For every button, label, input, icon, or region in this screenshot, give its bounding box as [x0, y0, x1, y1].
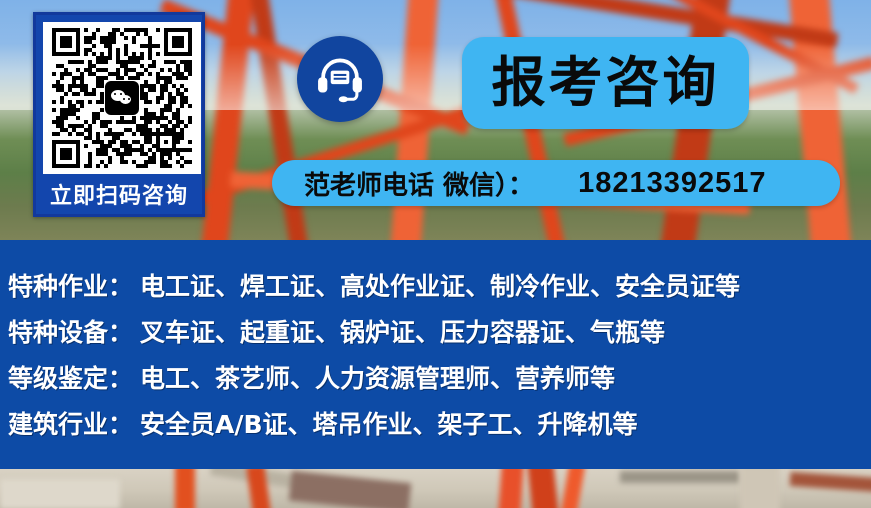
qr-code-card[interactable]: 立即扫码咨询 [33, 12, 205, 217]
qr-code-image[interactable] [43, 22, 201, 174]
wechat-icon [105, 81, 139, 115]
background-photo-strip-bottom [0, 469, 871, 508]
promo-poster: 立即扫码咨询 报考咨询 范老师电话 微信）： 18213392517 特种作业：… [0, 0, 871, 508]
headset-support-icon [297, 36, 383, 122]
category-label: 特种作业： [8, 267, 140, 303]
category-items: 叉车证、起重证、锅炉证、压力容器证、气瓶等 [140, 318, 665, 347]
category-label: 特种设备： [8, 313, 140, 349]
category-items: 电工证、焊工证、高处作业证、制冷作业、安全员证等 [140, 272, 740, 301]
category-items: 安全员A/B证、塔吊作业、架子工、升降机等 [140, 410, 638, 439]
list-item: 特种设备：叉车证、起重证、锅炉证、压力容器证、气瓶等 [8, 313, 665, 349]
qr-caption: 立即扫码咨询 [43, 174, 195, 220]
list-item: 等级鉴定：电工、茶艺师、人力资源管理师、营养师等 [8, 359, 615, 395]
contact-label: 范老师电话 微信）： [304, 165, 534, 202]
list-item: 建筑行业：安全员A/B证、塔吊作业、架子工、升降机等 [8, 405, 638, 441]
contact-pill[interactable]: 范老师电话 微信）： 18213392517 [272, 160, 840, 206]
category-label: 等级鉴定： [8, 359, 140, 395]
page-title: 报考咨询 [492, 56, 720, 110]
category-items: 电工、茶艺师、人力资源管理师、营养师等 [140, 364, 615, 393]
title-badge: 报考咨询 [462, 37, 749, 129]
category-label: 建筑行业： [8, 405, 140, 441]
certificate-list-panel: 特种作业：电工证、焊工证、高处作业证、制冷作业、安全员证等 特种设备：叉车证、起… [0, 240, 871, 469]
contact-phone-number[interactable]: 18213392517 [578, 167, 766, 200]
list-item: 特种作业：电工证、焊工证、高处作业证、制冷作业、安全员证等 [8, 267, 740, 303]
